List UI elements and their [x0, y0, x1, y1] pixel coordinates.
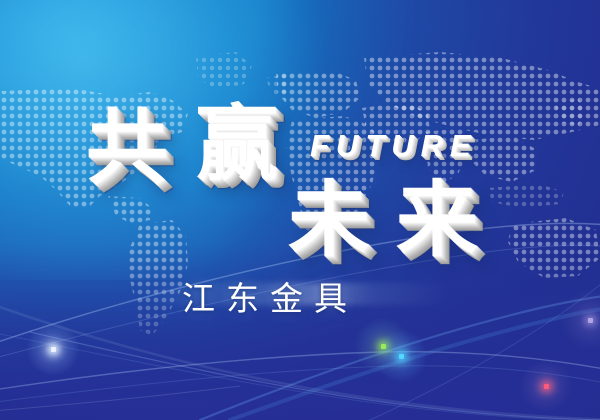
- promotional-banner: 共 赢 FUTURE 未 来 江东金具: [0, 0, 600, 420]
- vignette-overlay: [0, 0, 600, 420]
